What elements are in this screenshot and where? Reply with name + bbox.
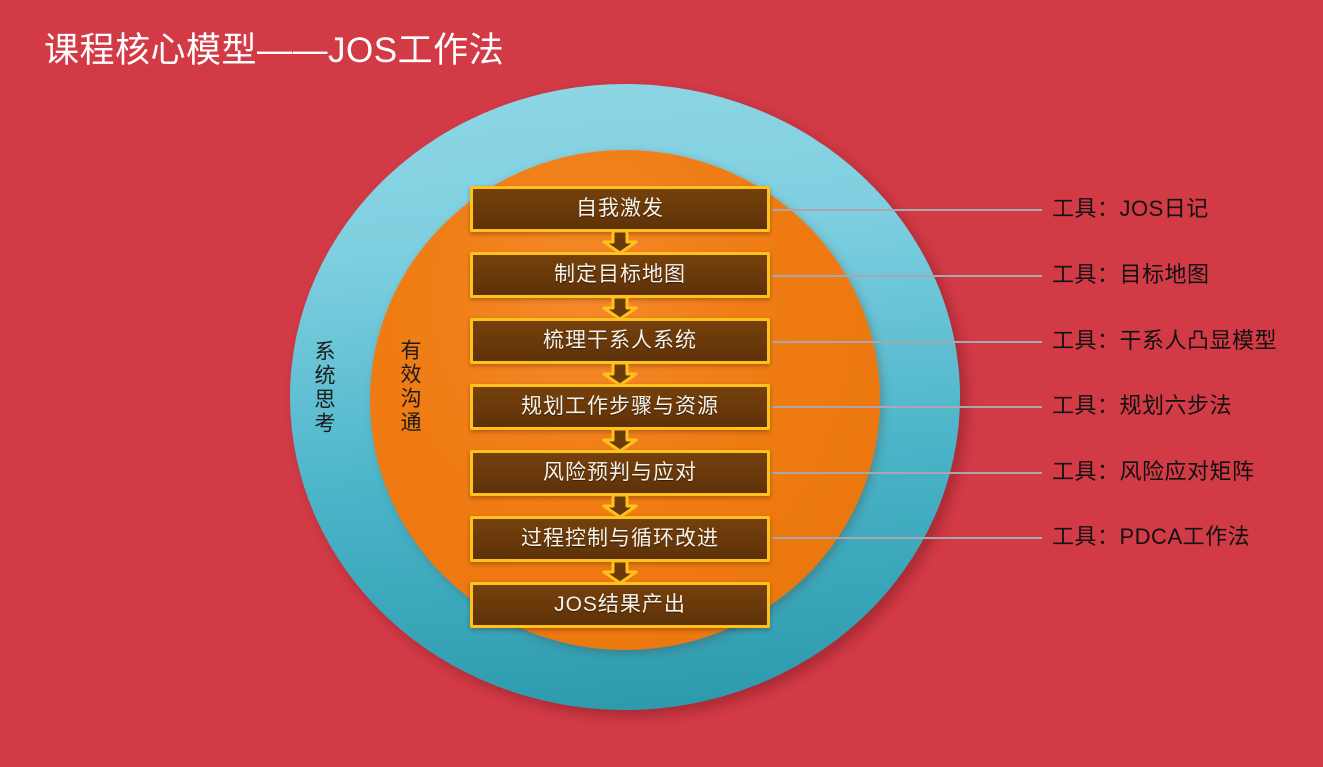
flow-arrow-4 — [470, 430, 770, 450]
flow-arrow-5 — [470, 496, 770, 516]
process-step-label: 过程控制与循环改进 — [521, 527, 719, 551]
tool-label-5: 工具：风险应对矩阵 — [1052, 459, 1255, 485]
arrow-down-icon — [602, 429, 638, 452]
flow-arrow-2 — [470, 298, 770, 318]
page-title: 课程核心模型——JOS工作法 — [44, 28, 504, 74]
process-flow: 自我激发制定目标地图梳理干系人系统规划工作步骤与资源风险预判与应对过程控制与循环… — [470, 186, 770, 628]
arrow-down-icon — [602, 363, 638, 386]
tool-label-3: 工具：干系人凸显模型 — [1052, 328, 1277, 354]
connector-line-4 — [772, 406, 1042, 408]
process-step-1[interactable]: 自我激发 — [470, 186, 770, 232]
slide-canvas: 课程核心模型——JOS工作法 系统思考 有效沟通 自我激发制定目标地图梳理干系人… — [0, 0, 1323, 767]
outer-ring-label: 系统思考 — [311, 340, 336, 436]
process-step-label: 风险预判与应对 — [543, 461, 697, 485]
process-step-5[interactable]: 风险预判与应对 — [470, 450, 770, 496]
process-step-label: JOS结果产出 — [554, 593, 686, 617]
flow-arrow-6 — [470, 562, 770, 582]
tool-label-4: 工具：规划六步法 — [1052, 393, 1232, 419]
arrow-down-icon — [602, 495, 638, 518]
process-step-label: 自我激发 — [576, 197, 664, 221]
process-step-2[interactable]: 制定目标地图 — [470, 252, 770, 298]
process-step-label: 制定目标地图 — [554, 263, 686, 287]
flow-arrow-3 — [470, 364, 770, 384]
process-step-7[interactable]: JOS结果产出 — [470, 582, 770, 628]
tool-label-2: 工具：目标地图 — [1052, 262, 1210, 288]
connector-line-1 — [772, 209, 1042, 211]
process-step-label: 规划工作步骤与资源 — [521, 395, 719, 419]
tool-label-1: 工具：JOS日记 — [1052, 196, 1209, 222]
connector-line-5 — [772, 472, 1042, 474]
arrow-down-icon — [602, 297, 638, 320]
tool-label-6: 工具：PDCA工作法 — [1052, 524, 1250, 550]
process-step-6[interactable]: 过程控制与循环改进 — [470, 516, 770, 562]
arrow-down-icon — [602, 231, 638, 254]
connector-line-2 — [772, 275, 1042, 277]
connector-line-3 — [772, 341, 1042, 343]
connector-line-6 — [772, 537, 1042, 539]
inner-circle-label: 有效沟通 — [397, 339, 422, 435]
process-step-3[interactable]: 梳理干系人系统 — [470, 318, 770, 364]
flow-arrow-1 — [470, 232, 770, 252]
process-step-label: 梳理干系人系统 — [543, 329, 697, 353]
process-step-4[interactable]: 规划工作步骤与资源 — [470, 384, 770, 430]
arrow-down-icon — [602, 561, 638, 584]
